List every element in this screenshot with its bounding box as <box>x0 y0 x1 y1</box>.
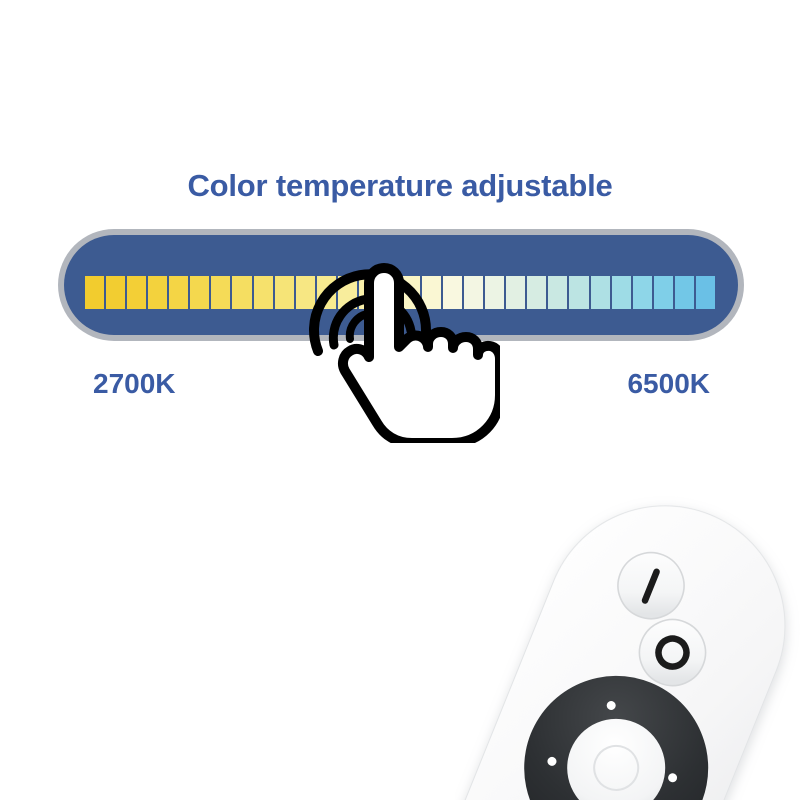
color-temp-segment-25[interactable] <box>591 276 612 309</box>
color-temp-segment-21[interactable] <box>506 276 527 309</box>
color-temp-segment-17[interactable] <box>422 276 443 309</box>
kelvin-min-label: 2700K <box>93 368 176 400</box>
color-temp-segment-29[interactable] <box>675 276 696 309</box>
led-remote-control[interactable]: 1 2 3 4 <box>455 470 800 800</box>
color-temp-segment-9[interactable] <box>254 276 275 309</box>
color-temp-segment-20[interactable] <box>485 276 506 309</box>
color-temp-segment-8[interactable] <box>232 276 253 309</box>
color-temp-segment-10[interactable] <box>275 276 296 309</box>
color-temp-segment-2[interactable] <box>106 276 127 309</box>
color-temp-segment-12[interactable] <box>317 276 338 309</box>
color-temp-segment-3[interactable] <box>127 276 148 309</box>
color-temp-segment-28[interactable] <box>654 276 675 309</box>
kelvin-max-label: 6500K <box>627 368 710 400</box>
color-temp-segment-23[interactable] <box>548 276 569 309</box>
color-temp-segment-15[interactable] <box>380 276 401 309</box>
slider-segment-track[interactable] <box>85 276 715 309</box>
color-temp-segment-27[interactable] <box>633 276 654 309</box>
color-temp-segment-14[interactable] <box>359 276 380 309</box>
color-temp-segment-1[interactable] <box>85 276 106 309</box>
color-temp-segment-6[interactable] <box>190 276 211 309</box>
color-temp-segment-22[interactable] <box>527 276 548 309</box>
page-title: Color temperature adjustable <box>0 168 800 204</box>
color-temp-segment-11[interactable] <box>296 276 317 309</box>
color-temp-segment-26[interactable] <box>612 276 633 309</box>
color-temp-segment-5[interactable] <box>169 276 190 309</box>
color-temp-segment-4[interactable] <box>148 276 169 309</box>
color-temp-segment-7[interactable] <box>211 276 232 309</box>
color-temp-segment-13[interactable] <box>338 276 359 309</box>
product-feature-illustration: Color temperature adjustable 2700K 6500K <box>0 0 800 800</box>
color-temp-segment-18[interactable] <box>443 276 464 309</box>
color-temp-segment-16[interactable] <box>401 276 422 309</box>
color-temp-segment-24[interactable] <box>569 276 590 309</box>
color-temp-segment-30[interactable] <box>696 276 715 309</box>
color-temp-segment-19[interactable] <box>464 276 485 309</box>
color-temperature-slider[interactable] <box>58 229 744 341</box>
